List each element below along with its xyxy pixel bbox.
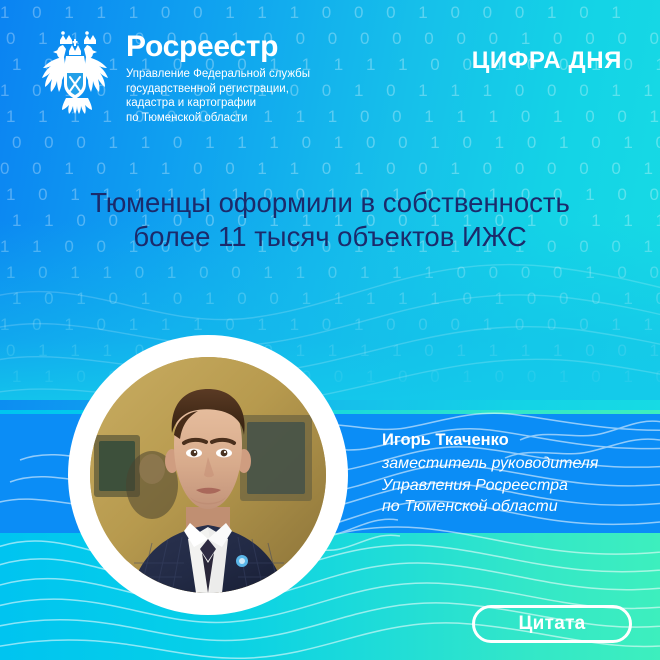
speaker-role: заместитель руководителя Управления Роср… xyxy=(382,453,652,518)
quote-button[interactable]: Цитата xyxy=(472,605,632,643)
brand-department-line-2: государственной регистрации, xyxy=(126,82,310,97)
speaker-photo-ring xyxy=(68,335,348,615)
speaker-photo xyxy=(90,357,326,593)
headline: Тюменцы оформили в собственность более 1… xyxy=(0,186,660,254)
social-card: 1 0 1 1 1 0 0 1 1 1 0 0 0 1 0 0 0 1 0 10… xyxy=(0,0,660,660)
category-badge: ЦИФРА ДНЯ xyxy=(472,47,622,75)
brand-logo: Росреестр Управление Федеральной службы … xyxy=(36,26,310,125)
headline-line-2: более 11 тысяч объектов ИЖС xyxy=(0,220,660,254)
speaker-role-line-3: по Тюменской области xyxy=(382,496,652,518)
quote-button-label: Цитата xyxy=(518,613,585,635)
brand-department-line-1: Управление Федеральной службы xyxy=(126,67,310,82)
headline-line-1: Тюменцы оформили в собственность xyxy=(0,186,660,220)
speaker-role-line-1: заместитель руководителя xyxy=(382,453,652,475)
brand-name: Росреестр xyxy=(126,32,310,62)
brand-department-line-4: по Тюменской области xyxy=(126,111,310,126)
brand-logo-text: Росреестр Управление Федеральной службы … xyxy=(126,26,310,125)
brand-department-line-3: кадастра и картографии xyxy=(126,96,310,111)
speaker-role-line-2: Управления Росреестра xyxy=(382,475,652,497)
speaker-name: Игорь Ткаченко xyxy=(382,430,652,451)
russian-eagle-emblem-icon xyxy=(36,26,114,118)
speaker-portrait-image xyxy=(90,357,326,593)
speaker-info: Игорь Ткаченко заместитель руководителя … xyxy=(382,430,652,518)
brand-department: Управление Федеральной службы государств… xyxy=(126,67,310,125)
